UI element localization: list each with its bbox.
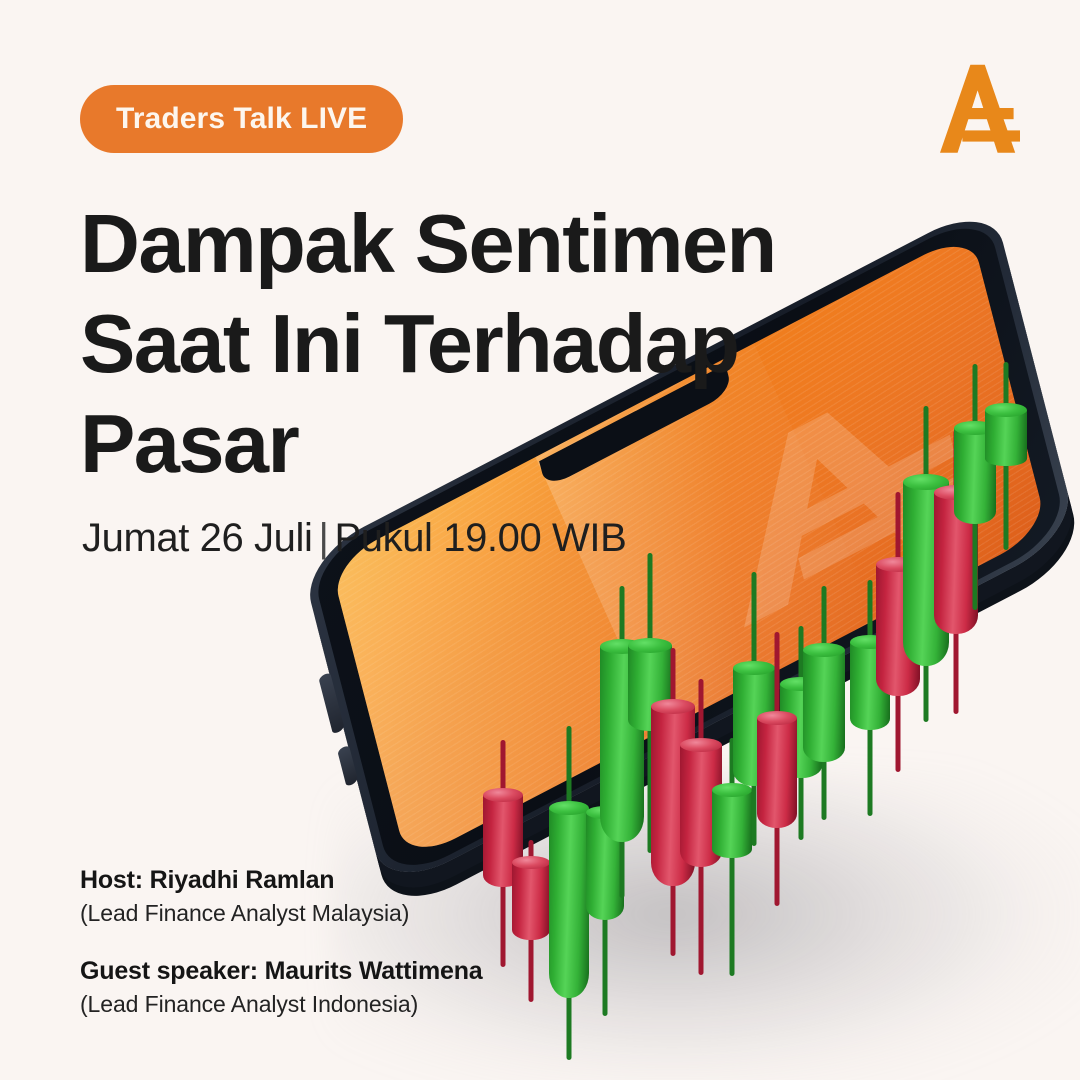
live-badge: Traders Talk LIVE	[80, 85, 403, 153]
credit-role: (Lead Finance Analyst Indonesia)	[80, 991, 483, 1018]
credit-block-1: Host: Riyadhi Ramlan(Lead Finance Analys…	[80, 866, 483, 927]
speaker-credits: Host: Riyadhi Ramlan(Lead Finance Analys…	[80, 866, 483, 1018]
page-title: Dampak Sentimen Saat Ini Terhadap Pasar	[80, 194, 840, 494]
credit-name: Guest speaker: Maurits Wattimena	[80, 957, 483, 986]
event-time: Pukul 19.00 WIB	[334, 516, 626, 560]
brand-a-logo-icon	[932, 58, 1028, 158]
credit-name: Host: Riyadhi Ramlan	[80, 866, 483, 895]
event-date: Jumat 26 Juli	[82, 516, 312, 560]
credit-role: (Lead Finance Analyst Malaysia)	[80, 900, 483, 927]
headline-line-2: Saat Ini Terhadap	[80, 294, 840, 394]
poster-canvas: Traders Talk LIVE Dampak Sentimen Saat I…	[0, 0, 1080, 1080]
datetime-separator: |	[312, 516, 334, 560]
headline-line-3: Pasar	[80, 394, 840, 494]
live-badge-label: Traders Talk LIVE	[116, 102, 367, 136]
credit-block-2: Guest speaker: Maurits Wattimena(Lead Fi…	[80, 957, 483, 1018]
headline-line-1: Dampak Sentimen	[80, 194, 840, 294]
event-datetime: Jumat 26 Juli|Pukul 19.00 WIB	[82, 516, 626, 561]
poster-content: Traders Talk LIVE Dampak Sentimen Saat I…	[0, 0, 1080, 1080]
